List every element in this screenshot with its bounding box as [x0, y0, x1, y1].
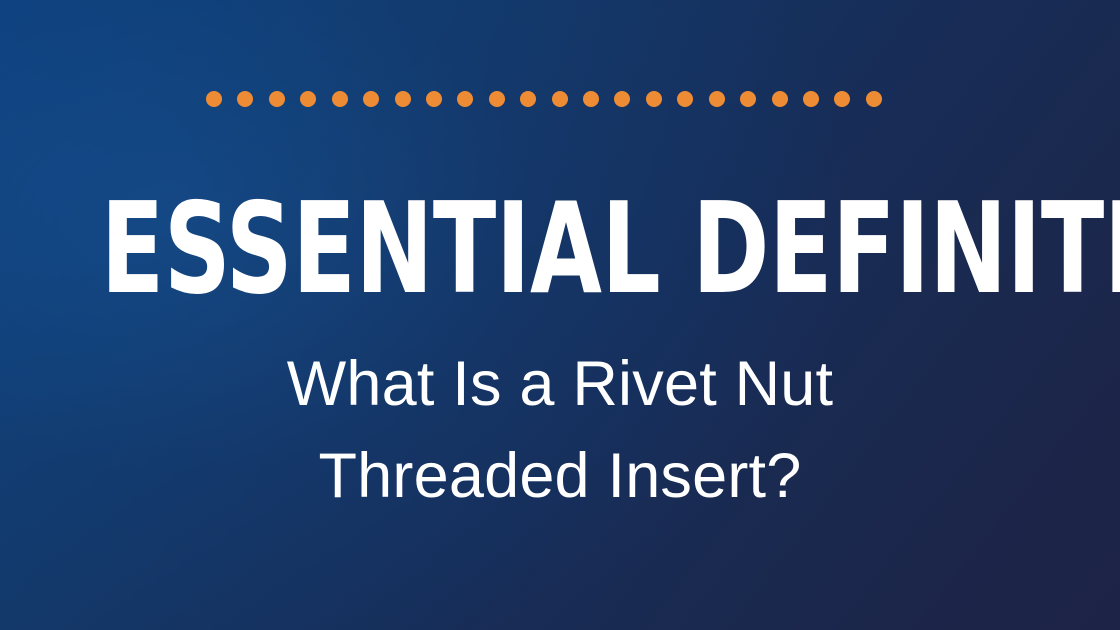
dot-icon [740, 91, 756, 107]
page-title: ESSENTIAL DEFINITION: [101, 186, 1019, 312]
dot-icon [709, 91, 725, 107]
dot-icon [395, 91, 411, 107]
dot-icon [583, 91, 599, 107]
subtitle-line-2: Threaded Insert? [0, 430, 1120, 522]
dot-icon [457, 91, 473, 107]
dot-icon [363, 91, 379, 107]
dot-icon [866, 91, 882, 107]
page-subtitle: What Is a Rivet Nut Threaded Insert? [0, 338, 1120, 522]
dot-icon [614, 91, 630, 107]
dot-row-divider [206, 90, 882, 107]
dot-icon [677, 91, 693, 107]
subtitle-line-1: What Is a Rivet Nut [0, 338, 1120, 430]
dot-icon [646, 91, 662, 107]
dot-icon [772, 91, 788, 107]
dot-icon [426, 91, 442, 107]
dot-icon [803, 91, 819, 107]
dot-icon [206, 91, 222, 107]
dot-icon [269, 91, 285, 107]
dot-icon [237, 91, 253, 107]
dot-icon [552, 91, 568, 107]
dot-icon [834, 91, 850, 107]
dot-icon [332, 91, 348, 107]
dot-icon [489, 91, 505, 107]
dot-icon [520, 91, 536, 107]
dot-icon [300, 91, 316, 107]
title-slide: ESSENTIAL DEFINITION: What Is a Rivet Nu… [0, 0, 1120, 630]
